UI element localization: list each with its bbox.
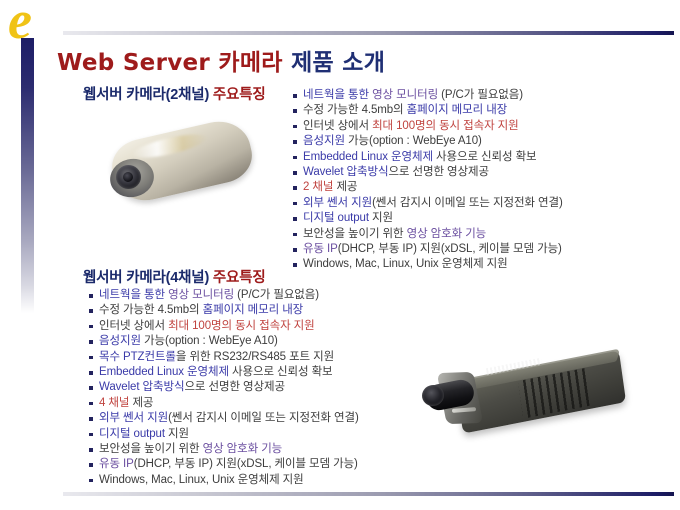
feature-text-run: 유동 IP <box>303 243 338 255</box>
feature-list-item: 네트웍을 통한 영상 모니터링 (P/C가 필요없음) <box>88 288 359 303</box>
feature-text-run: 디지털 output <box>99 428 165 440</box>
feature-list-item: Embedded Linux 운영체제 사용으로 신뢰성 확보 <box>292 150 563 165</box>
feature-text-run: 인터넷 상에서 <box>99 320 168 332</box>
camera-lens-aperture <box>123 172 133 182</box>
feature-text-run: (DHCP, 부동 IP) 지원(xDSL, 케이블 모뎀 가능) <box>134 458 358 470</box>
feature-list-item: 외부 쎈서 지원(쎈서 감지시 이메일 또는 지정전화 연결) <box>88 411 359 426</box>
feature-text-run: Wavelet 압축방식 <box>303 166 388 178</box>
feature-text-run: 음성지원 <box>303 135 345 147</box>
feature-text-run: 수정 가능한 4.5mb의 <box>99 304 203 316</box>
feature-list-item: 유동 IP(DHCP, 부동 IP) 지원(xDSL, 케이블 모뎀 가능) <box>88 457 359 472</box>
page-title-suffix: 제품 소개 <box>291 50 385 76</box>
section-heading-2channel-label: 주요특징 <box>213 87 266 103</box>
feature-list-item: 인터넷 상에서 최대 100명의 동시 접속자 지원 <box>292 119 563 134</box>
feature-list-item: 디지털 output 지원 <box>88 427 359 442</box>
header-divider-rule <box>63 31 674 35</box>
feature-list-item: 2 채널 제공 <box>292 180 563 195</box>
feature-list-item: 네트웍을 통한 영상 모니터링 (P/C가 필요없음) <box>292 88 563 103</box>
feature-text-run: 홈페이지 메모리 내장 <box>203 304 304 316</box>
feature-text-run: 을 위한 RS232/RS485 포트 지원 <box>176 351 334 363</box>
feature-list-item: 인터넷 상에서 최대 100명의 동시 접속자 지원 <box>88 319 359 334</box>
feature-text-run: Windows, Mac, Linux, Unix 운영체제 지원 <box>99 474 304 486</box>
feature-text-run: 음성지원 <box>99 335 141 347</box>
feature-text-run: 최대 100명의 동시 접속자 지원 <box>168 320 315 332</box>
section-heading-4channel-label: 주요특징 <box>213 270 266 286</box>
feature-text-run: 홈페이지 메모리 내장 <box>407 104 508 116</box>
feature-text-run: 가능(option : WebEye A10) <box>141 335 278 347</box>
feature-text-run: Embedded Linux 운영체제 <box>303 151 433 163</box>
feature-list-item: 목수 PTZ컨트롤을 위한 RS232/RS485 포트 지원 <box>88 350 359 365</box>
brand-logo-e: e <box>8 0 64 44</box>
feature-text-run: 제공 <box>129 397 153 409</box>
feature-text-run: 외부 쎈서 지원 <box>303 197 372 209</box>
feature-text-run: Embedded Linux 운영체제 <box>99 366 229 378</box>
feature-text-run: (P/C가 필요없음) <box>234 289 319 301</box>
page-title: Web Server 카메라 제품 소개 <box>57 43 385 77</box>
feature-list-item: 4 채널 제공 <box>88 396 359 411</box>
feature-text-run: (DHCP, 부동 IP) 지원(xDSL, 케이블 모뎀 가능) <box>338 243 562 255</box>
feature-text-run: 사용으로 신뢰성 확보 <box>433 151 537 163</box>
feature-text-run: (P/C가 필요없음) <box>438 89 523 101</box>
section-heading-2channel-name: 웹서버 카메라(2채널) <box>83 87 209 103</box>
feature-text-run: 네트웍을 통한 <box>99 289 168 301</box>
feature-list-item: 보안성을 높이기 위한 영상 암호화 기능 <box>88 442 359 457</box>
page-title-product: Web Server 카메라 <box>57 50 283 76</box>
feature-text-run: 사용으로 신뢰성 확보 <box>229 366 333 378</box>
feature-list-item: 수정 가능한 4.5mb의 홈페이지 메모리 내장 <box>292 103 563 118</box>
feature-list-4channel: 네트웍을 통한 영상 모니터링 (P/C가 필요없음)수정 가능한 4.5mb의… <box>88 288 359 488</box>
feature-text-run: 4 채널 <box>99 397 129 409</box>
feature-list-item: 음성지원 가능(option : WebEye A10) <box>292 134 563 149</box>
feature-text-run: 으로 선명한 영상제공 <box>184 381 285 393</box>
feature-text-run: (쎈서 감지시 이메일 또는 지정전화 연결) <box>372 197 563 209</box>
feature-text-run: 지원 <box>369 212 393 224</box>
feature-text-run: 제공 <box>333 181 357 193</box>
feature-text-run: 2 채널 <box>303 181 333 193</box>
feature-list-2channel: 네트웍을 통한 영상 모니터링 (P/C가 필요없음)수정 가능한 4.5mb의… <box>292 88 563 273</box>
section-heading-4channel-name: 웹서버 카메라(4채널) <box>83 270 209 286</box>
feature-text-run: 디지털 output <box>303 212 369 224</box>
feature-text-run: 영상 암호화 기능 <box>203 443 283 455</box>
feature-text-run: 영상 모니터링 <box>372 89 438 101</box>
feature-list-item: 보안성을 높이기 위한 영상 암호화 기능 <box>292 227 563 242</box>
feature-list-item: Wavelet 압축방식으로 선명한 영상제공 <box>292 165 563 180</box>
feature-text-run: 영상 모니터링 <box>168 289 234 301</box>
webserver-camera-4channel-photo <box>428 356 633 451</box>
feature-list-item: Windows, Mac, Linux, Unix 운영체제 지원 <box>292 257 563 272</box>
feature-list-item: 유동 IP(DHCP, 부동 IP) 지원(xDSL, 케이블 모뎀 가능) <box>292 242 563 257</box>
feature-text-run: 으로 선명한 영상제공 <box>388 166 489 178</box>
feature-text-run: 목수 PTZ컨트롤 <box>99 351 176 363</box>
feature-list-item: Windows, Mac, Linux, Unix 운영체제 지원 <box>88 473 359 488</box>
decorative-side-bar <box>21 38 34 313</box>
feature-text-run: 네트웍을 통한 <box>303 89 372 101</box>
feature-text-run: 가능(option : WebEye A10) <box>345 135 482 147</box>
feature-text-run: 영상 암호화 기능 <box>407 228 487 240</box>
feature-list-item: 음성지원 가능(option : WebEye A10) <box>88 334 359 349</box>
footer-divider-rule <box>63 492 674 496</box>
feature-text-run: 유동 IP <box>99 458 134 470</box>
feature-text-run: Windows, Mac, Linux, Unix 운영체제 지원 <box>303 258 508 270</box>
feature-text-run: 수정 가능한 4.5mb의 <box>303 104 407 116</box>
feature-list-item: 외부 쎈서 지원(쎈서 감지시 이메일 또는 지정전화 연결) <box>292 196 563 211</box>
webserver-camera-2channel-photo <box>104 112 259 220</box>
feature-text-run: (쎈서 감지시 이메일 또는 지정전화 연결) <box>168 412 359 424</box>
feature-text-run: 최대 100명의 동시 접속자 지원 <box>372 120 519 132</box>
feature-text-run: 외부 쎈서 지원 <box>99 412 168 424</box>
feature-list-item: 수정 가능한 4.5mb의 홈페이지 메모리 내장 <box>88 303 359 318</box>
feature-text-run: Wavelet 압축방식 <box>99 381 184 393</box>
feature-text-run: 지원 <box>165 428 189 440</box>
feature-list-item: 디지털 output 지원 <box>292 211 563 226</box>
section-heading-2channel: 웹서버 카메라(2채널) 주요특징 <box>83 83 265 104</box>
feature-text-run: 보안성을 높이기 위한 <box>99 443 203 455</box>
feature-text-run: 보안성을 높이기 위한 <box>303 228 407 240</box>
feature-list-item: Embedded Linux 운영체제 사용으로 신뢰성 확보 <box>88 365 359 380</box>
section-heading-4channel: 웹서버 카메라(4채널) 주요특징 <box>83 266 265 287</box>
feature-text-run: 인터넷 상에서 <box>303 120 372 132</box>
feature-list-item: Wavelet 압축방식으로 선명한 영상제공 <box>88 380 359 395</box>
